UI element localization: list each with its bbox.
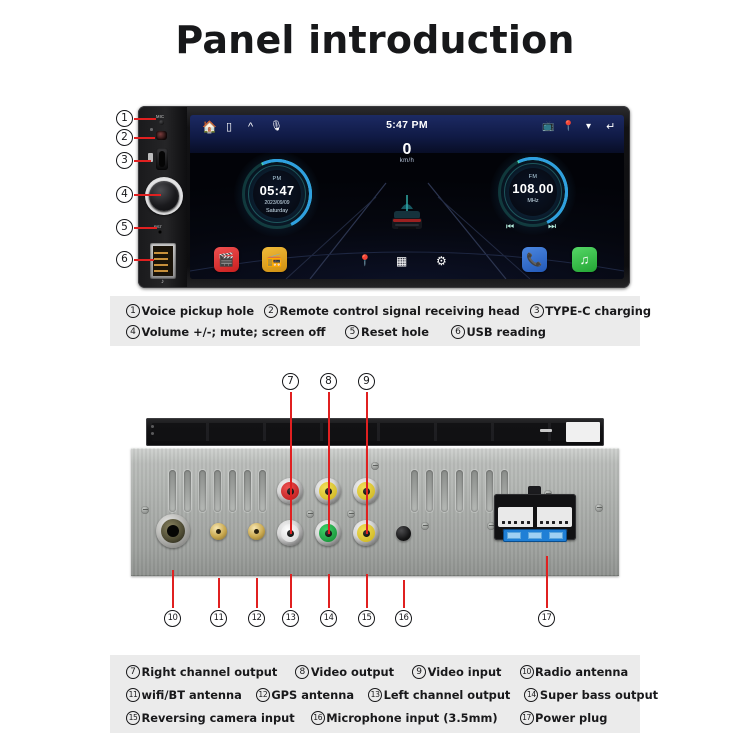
power-plug-pin-row [502, 519, 533, 522]
callout-8-leader [328, 392, 330, 534]
vent-slot [214, 470, 221, 512]
legend-item-5: 5 Reset hole [345, 325, 428, 339]
legend-label-15: Reversing camera input [142, 711, 295, 725]
legend-num-11: 11 [126, 688, 140, 702]
gps-antenna-hole [254, 529, 259, 534]
callout-11-leader [218, 578, 220, 608]
legend-item-6: 6 USB reading [451, 325, 546, 339]
rear-bracket-slots [152, 423, 598, 441]
legend-front: 1 Voice pickup hole 2 Remote control sig… [110, 296, 640, 346]
legend-label-6: USB reading [466, 325, 545, 339]
settings-gear-icon[interactable]: ⚙ [436, 254, 447, 268]
rear-bracket-dots [151, 425, 154, 439]
gps-antenna-jack[interactable] [248, 523, 265, 540]
callout-6: 6 [116, 251, 133, 268]
callout-15-leader [366, 574, 368, 608]
callout-3: 3 [116, 152, 133, 169]
legend-item-11: 11 wifi/BT antenna [126, 688, 242, 702]
legend-num-1: 1 [126, 304, 140, 318]
power-plug-divider [533, 507, 537, 527]
vent-slot [426, 470, 433, 512]
legend-item-2: 2 Remote control signal receiving head [264, 304, 520, 318]
callout-3-leader [134, 160, 151, 162]
chassis-screw [371, 462, 379, 470]
legend-item-8: 8 Video output [295, 665, 394, 679]
legend-item-1: 1 Voice pickup hole [126, 304, 254, 318]
vent-slot [259, 470, 266, 512]
microphone-input-jack[interactable] [396, 526, 411, 541]
video-app-icon[interactable]: 🎬 [214, 247, 239, 272]
legend-num-12: 12 [256, 688, 270, 702]
callout-12-leader [256, 578, 258, 608]
legend-label-12: GPS antenna [271, 688, 354, 702]
legend-label-13: Left channel output [384, 688, 511, 702]
clock-date: 2023/09/09 [253, 200, 301, 206]
usb-pin [154, 270, 168, 272]
location-icon[interactable]: 📍 [562, 120, 574, 134]
lcd-screen[interactable]: 🏠 ▯ ^ 🎙 5:47 PM 📺 📍 ▾ ↵ PM 05:47 [190, 115, 624, 279]
vent-slot [244, 470, 251, 512]
legend-rear-row: 7 Right channel output 8 Video output 9 … [126, 660, 640, 683]
clock-face: PM 05:47 2023/09/09 Saturday [253, 170, 301, 218]
callout-14: 14 [320, 610, 337, 627]
usb-pin [154, 258, 168, 260]
vent-slot [184, 470, 191, 512]
clock-meridiem: PM [253, 176, 301, 182]
vent-slot [169, 470, 176, 512]
legend-num-6: 6 [451, 325, 465, 339]
status-bar-time: 5:47 PM [190, 119, 624, 131]
legend-item-13: 13 Left channel output [368, 688, 510, 702]
legend-label-16: Microphone input (3.5mm) [326, 711, 497, 725]
rear-top-bracket [146, 418, 604, 446]
callout-6-leader [134, 259, 154, 261]
wifi-bt-antenna-jack[interactable] [210, 523, 227, 540]
mic-label: MIC [156, 114, 164, 119]
callout-4: 4 [116, 186, 133, 203]
callout-17: 17 [538, 610, 555, 627]
legend-num-9: 9 [412, 665, 426, 679]
skip-previous-icon[interactable]: ⏮ [506, 221, 514, 232]
volume-knob-cap[interactable] [149, 181, 179, 211]
vent-slot [456, 470, 463, 512]
callout-17-leader [546, 556, 548, 608]
legend-num-7: 7 [126, 665, 140, 679]
legend-item-7: 7 Right channel output [126, 665, 277, 679]
callout-16: 16 [395, 610, 412, 627]
video-app-glyph: 🎬 [218, 252, 234, 268]
callout-5-leader [134, 227, 157, 229]
reset-hole[interactable] [158, 230, 162, 234]
callout-1-leader [134, 118, 156, 120]
music-app-glyph: ♫ [580, 252, 590, 267]
chassis-screw [347, 510, 355, 518]
callout-8: 8 [320, 373, 337, 390]
radio-antenna-jack[interactable] [156, 514, 190, 548]
callout-12: 12 [248, 610, 265, 627]
power-plug-blue-pad [528, 532, 542, 539]
skip-next-icon[interactable]: ⏭ [548, 221, 556, 232]
clock-weekday: Saturday [253, 208, 301, 214]
legend-label-14: Super bass output [540, 688, 658, 702]
radio-widget[interactable]: FM 108.00 MHz ⏮ ⏭ [490, 149, 576, 235]
callout-10-leader [172, 570, 174, 608]
power-plug-pin-row [540, 519, 571, 522]
callout-13: 13 [282, 610, 299, 627]
page-title: Panel introduction [0, 18, 750, 62]
legend-num-3: 3 [530, 304, 544, 318]
callout-4-leader [134, 194, 161, 196]
radio-face: FM 108.00 MHz [509, 168, 557, 216]
music-note-icon: ♪ [161, 279, 164, 285]
legend-item-15: 15 Reversing camera input [126, 711, 295, 725]
rear-bracket-label [566, 422, 600, 442]
legend-label-4: Volume +/-; mute; screen off [142, 325, 326, 339]
power-plug-blue-pad [507, 532, 521, 539]
legend-front-row: 4 Volume +/-; mute; screen off 5 Reset h… [126, 321, 640, 342]
legend-label-8: Video output [311, 665, 394, 679]
legend-item-3: 3 TYPE-C charging [530, 304, 651, 318]
legend-rear: 7 Right channel output 8 Video output 9 … [110, 655, 640, 733]
callout-10: 10 [164, 610, 181, 627]
voice-pickup-hole[interactable] [159, 120, 164, 125]
vent-slot [199, 470, 206, 512]
callout-5: 5 [116, 219, 133, 236]
legend-label-5: Reset hole [361, 325, 429, 339]
power-plug-blue-block [503, 529, 567, 542]
legend-num-16: 16 [311, 711, 325, 725]
legend-num-15: 15 [126, 711, 140, 725]
legend-item-14: 14 Super bass output [524, 688, 658, 702]
vent-slot [411, 470, 418, 512]
callout-2: 2 [116, 129, 133, 146]
power-plug-pin-row [502, 511, 533, 514]
ir-receiver-icon[interactable] [156, 131, 167, 140]
legend-num-5: 5 [345, 325, 359, 339]
power-plug-pin-block [498, 507, 572, 527]
chassis-screw [306, 510, 314, 518]
radio-antenna-hole [167, 525, 179, 537]
clock-time: 05:47 [253, 183, 301, 198]
legend-num-4: 4 [126, 325, 140, 339]
radio-frequency: 108.00 [509, 181, 557, 196]
navigation-icon[interactable]: 📍 [358, 254, 372, 267]
power-plug-body [494, 494, 576, 540]
power-plug-connector[interactable] [494, 486, 576, 548]
callout-7-leader [290, 392, 292, 534]
legend-num-10: 10 [520, 665, 534, 679]
type-c-port[interactable] [156, 148, 168, 170]
volume-knob[interactable] [145, 177, 183, 215]
legend-num-2: 2 [264, 304, 278, 318]
wifi-bt-antenna-hole [216, 529, 221, 534]
legend-label-11: wifi/BT antenna [142, 688, 242, 702]
status-bar: 🏠 ▯ ^ 🎙 5:47 PM 📺 📍 ▾ ↵ [190, 115, 624, 139]
back-icon[interactable]: ↵ [606, 120, 615, 134]
chassis-screw [141, 506, 149, 514]
radio-app-icon[interactable]: 📻 [262, 247, 287, 272]
legend-label-17: Power plug [535, 711, 607, 725]
usb-pin [154, 264, 168, 266]
callout-7: 7 [282, 373, 299, 390]
vent-slot [441, 470, 448, 512]
apps-grid-icon[interactable]: ▦ [396, 254, 407, 268]
app-dock: 🎬 📻 📞 ♫ 📍 ▦ ⚙ [190, 243, 624, 279]
legend-item-16: 16 Microphone input (3.5mm) [311, 711, 498, 725]
callout-1: 1 [116, 110, 133, 127]
legend-item-9: 9 Video input [412, 665, 501, 679]
speed-value: 0 [190, 141, 624, 158]
phone-app-icon[interactable]: 📞 [522, 247, 547, 272]
radio-app-glyph: 📻 [266, 252, 282, 268]
radio-band: FM [509, 174, 557, 180]
legend-num-8: 8 [295, 665, 309, 679]
callout-15: 15 [358, 610, 375, 627]
radio-unit: MHz [509, 198, 557, 204]
car-graphic-icon [382, 193, 432, 235]
wifi-icon[interactable]: ▾ [586, 120, 591, 134]
callout-2-leader [134, 137, 155, 139]
chassis-screw [421, 522, 429, 530]
vent-slot [229, 470, 236, 512]
legend-label-2: Remote control signal receiving head [280, 304, 520, 318]
phone-app-glyph: 📞 [526, 252, 542, 268]
vent-slot [471, 470, 478, 512]
legend-num-13: 13 [368, 688, 382, 702]
legend-item-10: 10 Radio antenna [520, 665, 629, 679]
indicator-dot [150, 128, 153, 131]
legend-num-14: 14 [524, 688, 538, 702]
usb-port[interactable] [150, 243, 176, 279]
legend-item-12: 12 GPS antenna [256, 688, 354, 702]
callout-16-leader [403, 580, 405, 608]
power-plug-blue-pad [549, 532, 563, 539]
usb-pin [154, 252, 168, 254]
callout-14-leader [328, 574, 330, 608]
callout-9-leader [366, 392, 368, 534]
legend-item-4: 4 Volume +/-; mute; screen off [126, 325, 325, 339]
legend-item-17: 17 Power plug [520, 711, 608, 725]
infographic-page: Panel introduction 1 2 3 4 5 6 MIC RST [0, 0, 750, 750]
music-app-icon[interactable]: ♫ [572, 247, 597, 272]
front-panel-unit: MIC RST ♪ [138, 106, 630, 288]
legend-label-3: TYPE-C charging [545, 304, 651, 318]
power-plug-pin-row [540, 511, 571, 514]
cast-icon[interactable]: 📺 [542, 120, 554, 134]
vent-slot [486, 470, 493, 512]
chassis-screw [595, 504, 603, 512]
legend-label-7: Right channel output [142, 665, 278, 679]
rear-bracket-tab [540, 429, 552, 432]
legend-num-17: 17 [520, 711, 534, 725]
legend-label-1: Voice pickup hole [142, 304, 255, 318]
legend-rear-row: 11 wifi/BT antenna 12 GPS antenna 13 Lef… [126, 683, 640, 706]
legend-front-row: 1 Voice pickup hole 2 Remote control sig… [126, 300, 640, 321]
legend-label-10: Radio antenna [535, 665, 628, 679]
legend-label-9: Video input [428, 665, 502, 679]
callout-9: 9 [358, 373, 375, 390]
callout-11: 11 [210, 610, 227, 627]
legend-rear-row: 15 Reversing camera input 16 Microphone … [126, 706, 640, 729]
callout-13-leader [290, 574, 292, 608]
